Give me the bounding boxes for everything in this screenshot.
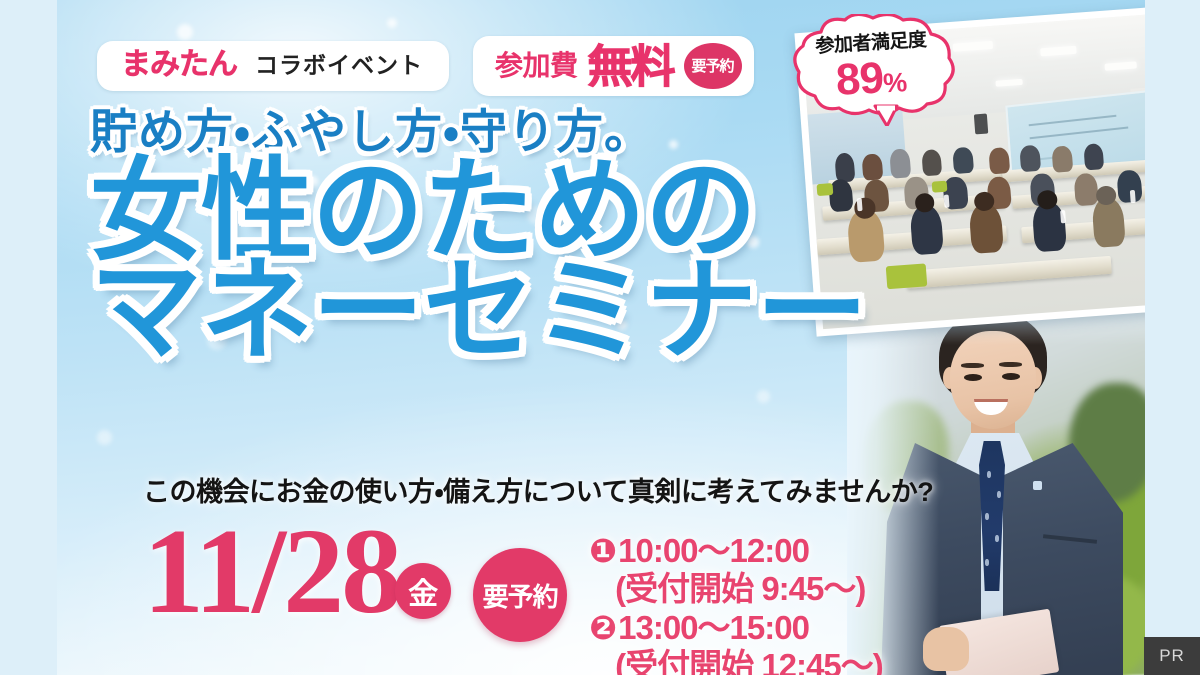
necktie-pattern-dot [995, 535, 999, 542]
event-date-group: 11/28 金 [143, 520, 451, 625]
left-background-band [0, 0, 57, 675]
session-2-time: ❷13:00〜15:00 [589, 609, 883, 647]
headline-line-2: マネーセミナー [90, 254, 867, 368]
seminar-banner: まみたん コラボイベント 参加費 無料 要予約 参加者満足度 89% [0, 0, 1200, 675]
reservation-required-oval: 要予約 [684, 43, 742, 89]
collab-badge: まみたん コラボイベント [97, 41, 449, 91]
classroom-attendee [988, 147, 1010, 174]
mamitan-logo: まみたん [121, 50, 237, 80]
fee-free-value: 無料 [588, 44, 674, 89]
top-badge-row: まみたん コラボイベント 参加費 無料 要予約 [97, 36, 754, 96]
presenter-eyebrow [999, 362, 1022, 367]
classroom-attendee [889, 148, 911, 178]
event-date-strip: 11/28 金 要予約 ❶10:00〜12:00 (受付開始 9:45〜) ❷1… [143, 520, 883, 675]
participation-fee-badge: 参加費 無料 要予約 [473, 36, 754, 96]
session-1-reception: (受付開始 9:45〜) [589, 570, 883, 608]
screen-text-line [1029, 127, 1128, 140]
necktie-pattern-dot [987, 471, 991, 478]
bokeh-speck [97, 430, 112, 445]
session-schedule: ❶10:00〜12:00 (受付開始 9:45〜) ❷13:00〜15:00 (… [589, 532, 883, 675]
presenter-eye [1002, 373, 1020, 380]
session-2-marker: ❷ [589, 609, 616, 646]
classroom-attendee [952, 147, 974, 174]
headline-block: 貯め方・ふやし方・守り方。 女性のための マネーセミナー [90, 106, 867, 368]
water-bottle [1130, 190, 1136, 203]
necktie-pattern-dot [985, 513, 989, 520]
classroom-desk [906, 256, 1112, 290]
classroom-chair [886, 263, 927, 289]
collab-event-label: コラボイベント [255, 54, 423, 77]
speaker-icon [974, 114, 988, 135]
event-date-number: 11/28 [143, 520, 399, 625]
right-background-band [1145, 0, 1200, 675]
presenter-hand [923, 627, 969, 671]
banner-artwork: まみたん コラボイベント 参加費 無料 要予約 参加者満足度 89% [57, 0, 1145, 675]
classroom-chair [931, 180, 948, 193]
presenter-eyebrow [961, 363, 984, 368]
water-bottle [1060, 210, 1066, 223]
reservation-required-circle: 要予約 [473, 548, 567, 642]
session-2-reception: (受付開始 12:45〜) [589, 647, 883, 675]
bokeh-speck [387, 18, 397, 28]
day-of-week-badge: 金 [395, 563, 451, 619]
bokeh-speck [757, 390, 770, 403]
session-1-time-text: 10:00〜12:00 [618, 532, 809, 569]
satisfaction-cloud-badge: 参加者満足度 89% [785, 14, 957, 126]
session-1-marker: ❶ [589, 532, 616, 569]
presenter-eye [964, 374, 982, 381]
screen-text-line [1028, 115, 1116, 127]
classroom-attendee [1073, 172, 1099, 206]
lapel-pin-icon [1033, 481, 1042, 490]
pr-tag: PR [1144, 637, 1200, 675]
fee-prefix-label: 参加費 [495, 52, 578, 80]
classroom-attendee [921, 149, 943, 176]
necktie-pattern-dot [997, 491, 1001, 498]
classroom-attendee [1051, 145, 1073, 172]
session-2-time-text: 13:00〜15:00 [618, 609, 809, 646]
session-1-time: ❶10:00〜12:00 [589, 532, 883, 570]
necktie-pattern-dot [985, 559, 989, 566]
